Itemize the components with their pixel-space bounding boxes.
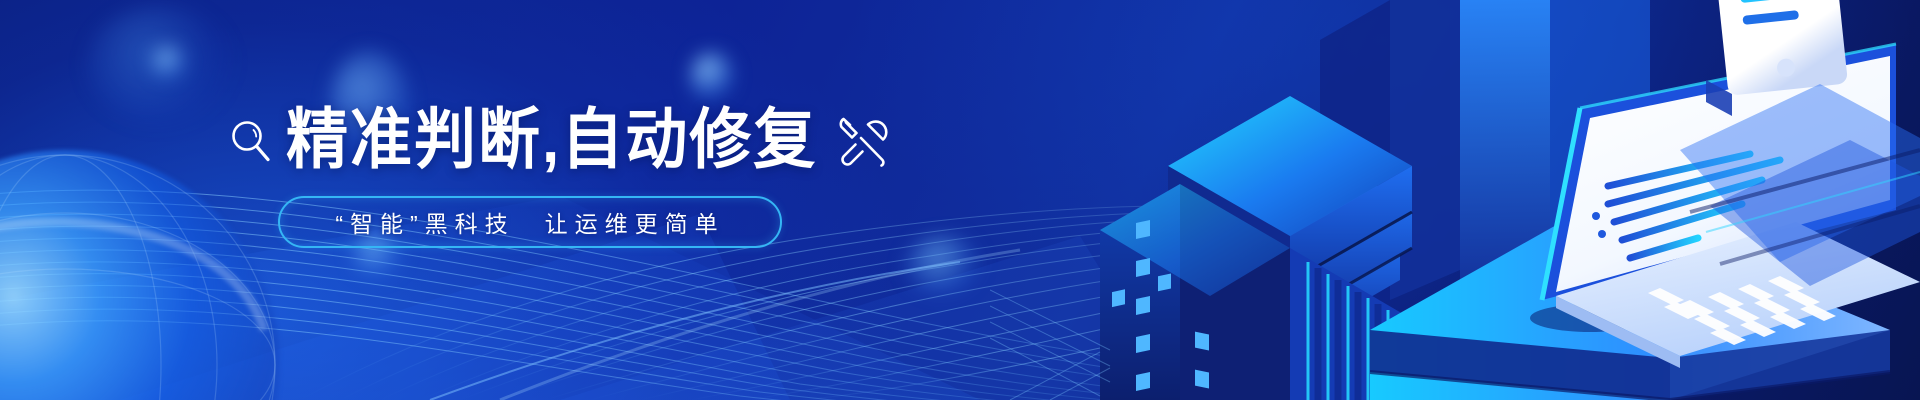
tower-with-windows: [1100, 184, 1290, 400]
desk-platform: [1370, 206, 1890, 400]
magnifying-glass-svg: [228, 118, 272, 164]
card-lines: [1738, 0, 1811, 81]
subtitle-text: “智能”黑科技 让运维更简单: [335, 205, 724, 239]
copy-block: 精准判断,自动修复 “智能”黑科技 让运维更简单: [228, 104, 868, 178]
laptop-with-report: [1530, 38, 1920, 368]
screen-report-lines: [1592, 154, 1780, 258]
floating-document-card: [1696, 0, 1852, 116]
keyboard-keys: [1648, 276, 1836, 345]
back-slab-a: [1320, 0, 1390, 330]
orb-5: [905, 236, 983, 294]
globe-glow: [0, 150, 280, 400]
back-tower: [1460, 0, 1550, 285]
globe-mesh: [0, 150, 280, 400]
promo-banner: 精准判断,自动修复 “智能”黑科技 让运维更简单: [0, 0, 1920, 400]
orb-6: [86, 6, 236, 126]
page-title: 精准判断,自动修复: [286, 108, 817, 174]
globe-mesh-svg: [0, 150, 280, 400]
window-grid: [1112, 220, 1209, 400]
headline-row: 精准判断,自动修复: [228, 104, 868, 178]
wrench-svg: [837, 115, 889, 167]
isometric-illustration: [990, 0, 1920, 400]
striped-facade: [1290, 248, 1410, 400]
illustration-svg: [990, 0, 1920, 400]
orb-3: [152, 46, 186, 80]
subtitle-pill: “智能”黑科技 让运维更简单: [278, 196, 782, 248]
right-stack: [1680, 84, 1920, 286]
stacked-block: [1168, 96, 1412, 344]
back-slab-b: [1390, 0, 1460, 300]
magnifying-glass-icon: [228, 118, 272, 164]
back-tower-2: [1550, 0, 1650, 272]
wrench-icon: [837, 115, 889, 167]
orb-2: [690, 52, 734, 104]
ground-mesh: [990, 290, 1110, 400]
